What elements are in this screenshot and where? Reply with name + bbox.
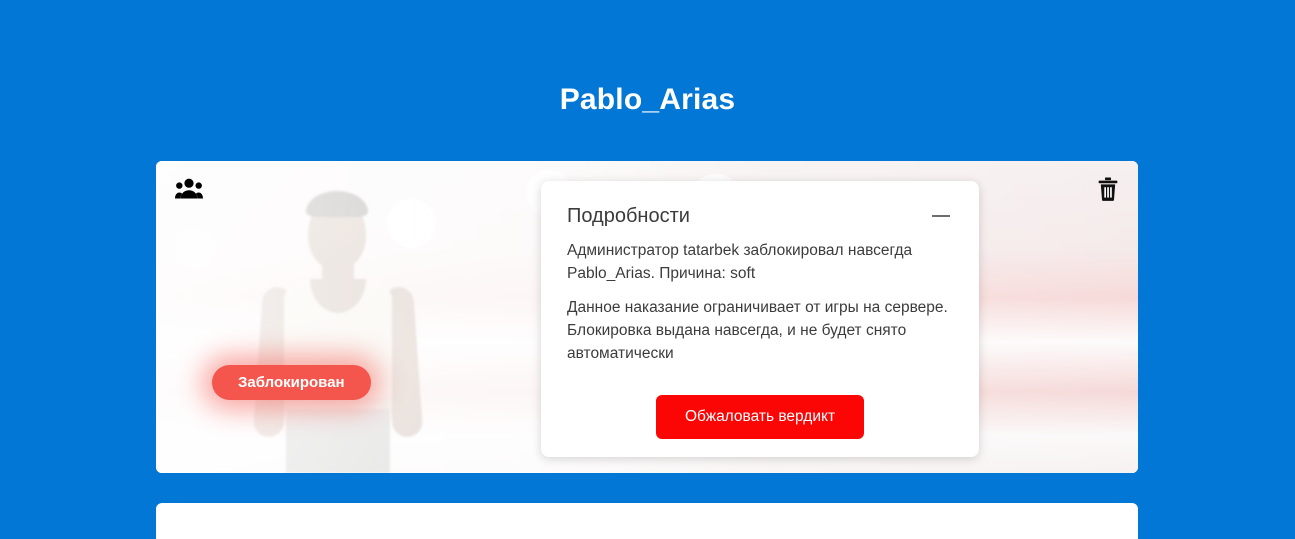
appeal-button-row: Обжаловать вердикт	[541, 395, 979, 439]
minus-icon[interactable]	[929, 203, 953, 227]
status-badge: Заблокирован	[212, 365, 371, 400]
page-root: Pablo_Arias	[0, 0, 1295, 539]
skin-arm-right	[383, 286, 423, 438]
details-title: Подробности	[567, 203, 690, 229]
details-header: Подробности	[567, 203, 953, 229]
users-group-icon[interactable]	[175, 177, 203, 199]
skin-neck	[322, 259, 354, 289]
secondary-card	[156, 503, 1138, 539]
skin-collar	[310, 279, 366, 313]
character-skin-render	[200, 175, 490, 473]
skin-legs	[286, 401, 390, 473]
trash-icon[interactable]	[1098, 177, 1118, 201]
appeal-verdict-button[interactable]: Обжаловать вердикт	[656, 395, 864, 439]
details-panel: Подробности Администратор tatarbek забло…	[541, 181, 979, 457]
skin-arm-left	[253, 286, 293, 438]
skin-head	[308, 195, 366, 269]
details-paragraph-verdict: Администратор tatarbek заблокировал навс…	[567, 239, 953, 285]
punishment-card: Заблокирован Подробности Администратор t…	[156, 161, 1138, 473]
details-paragraph-explanation: Данное наказание ограничивает от игры на…	[567, 296, 953, 365]
details-body: Администратор tatarbek заблокировал навс…	[567, 239, 953, 365]
skin-hair	[306, 191, 368, 217]
page-title: Pablo_Arias	[0, 78, 1295, 122]
